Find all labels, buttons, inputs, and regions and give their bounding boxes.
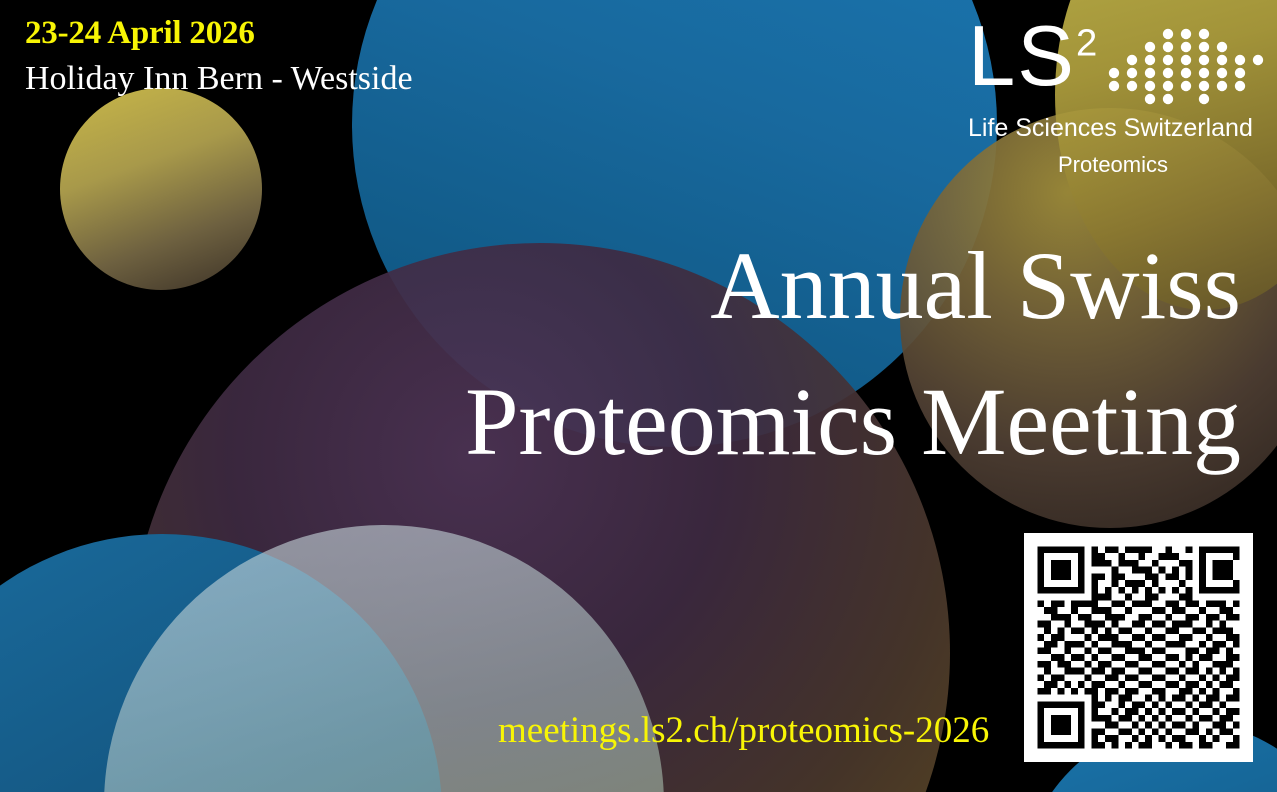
page-title: Annual Swiss Proteomics Meeting — [465, 218, 1241, 491]
ls2-wordmark-text: LS — [968, 9, 1076, 104]
ls2-wordmark: LS2 — [968, 14, 1099, 99]
switzerland-dot-map-icon — [1106, 26, 1266, 111]
title-line-1: Annual Swiss — [465, 218, 1241, 354]
event-url[interactable]: meetings.ls2.ch/proteomics-2026 — [498, 709, 989, 752]
ls2-division: Proteomics — [968, 152, 1258, 178]
qr-code[interactable] — [1024, 533, 1253, 762]
conference-poster: 23-24 April 2026 Holiday Inn Bern - West… — [0, 0, 1277, 792]
ls2-logo[interactable]: LS2 Life Sciences Switzerland Proteomics — [960, 14, 1260, 194]
title-line-2: Proteomics Meeting — [465, 354, 1241, 490]
gold-circle-top-left — [60, 88, 262, 290]
event-venue: Holiday Inn Bern - Westside — [25, 59, 413, 99]
event-header: 23-24 April 2026 Holiday Inn Bern - West… — [25, 16, 413, 99]
ls2-wordmark-superscript: 2 — [1076, 22, 1099, 65]
event-dates: 23-24 April 2026 — [25, 16, 413, 52]
ls2-subtitle: Life Sciences Switzerland — [968, 114, 1253, 143]
